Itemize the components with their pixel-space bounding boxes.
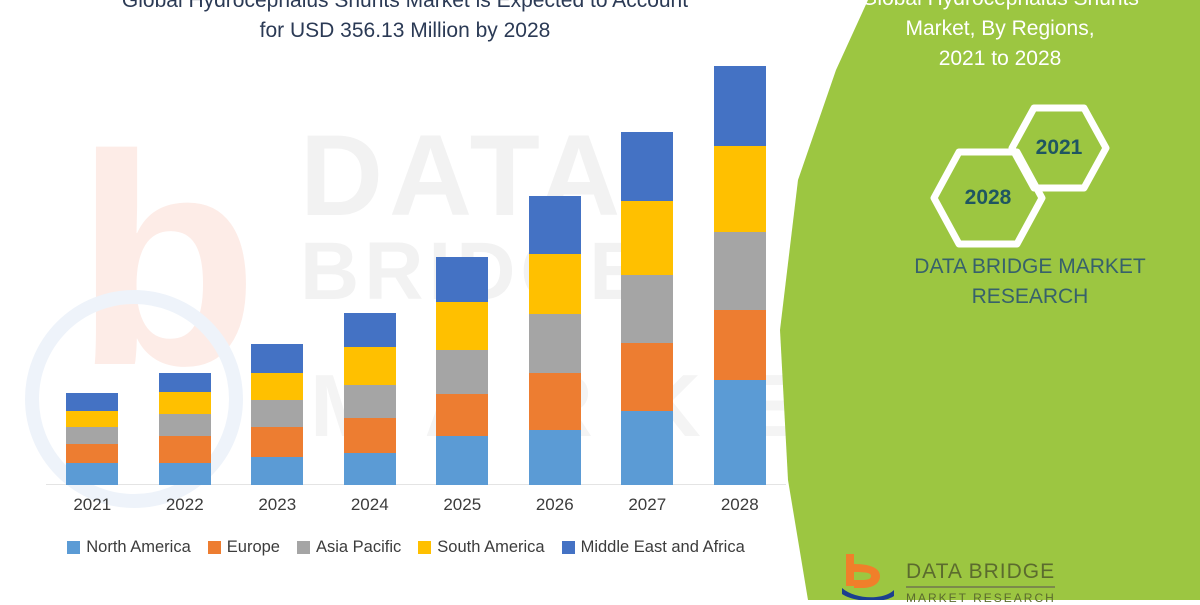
- legend-item-middle-east-and-africa[interactable]: Middle East and Africa: [562, 538, 745, 557]
- side-panel-title-line-3: 2021 to 2028: [810, 44, 1190, 74]
- bar-2025: [436, 257, 488, 485]
- bar-segment-middle-east-and-africa-2025: [436, 257, 488, 303]
- legend-swatch-icon: [562, 541, 575, 554]
- bar-segment-south-america-2028: [714, 146, 766, 232]
- x-axis-label-2026: 2026: [510, 495, 600, 515]
- hexagon-badge-2021-label: 2021: [1036, 136, 1083, 160]
- bar-segment-asia-pacific-2028: [714, 232, 766, 310]
- bar-2021: [66, 393, 118, 485]
- x-axis-labels: 20212022202320242025202620272028: [46, 495, 786, 525]
- bar-segment-middle-east-and-africa-2026: [529, 196, 581, 254]
- bar-segment-north-america-2025: [436, 436, 488, 485]
- bar-segment-middle-east-and-africa-2023: [251, 344, 303, 373]
- bar-segment-south-america-2024: [344, 347, 396, 385]
- bar-2027: [621, 132, 673, 485]
- legend-label: North America: [86, 538, 191, 557]
- bar-2026: [529, 196, 581, 485]
- footer-logo-text: DATA BRIDGE MARKET RESEARCH: [906, 552, 1056, 605]
- footer-logo: DATA BRIDGE MARKET RESEARCH: [840, 552, 1200, 600]
- bar-segment-asia-pacific-2023: [251, 400, 303, 427]
- bar-segment-europe-2022: [159, 436, 211, 463]
- bar-segment-europe-2024: [344, 418, 396, 453]
- brand-line-1: DATA BRIDGE MARKET: [880, 252, 1180, 282]
- footer-logo-line-2: MARKET RESEARCH: [906, 591, 1056, 605]
- chart-panel: b DATA BRIDGE M A R K E T R E S E A R C …: [0, 0, 860, 600]
- x-axis-label-2028: 2028: [695, 495, 785, 515]
- x-axis-label-2021: 2021: [47, 495, 137, 515]
- bar-segment-south-america-2025: [436, 302, 488, 349]
- brand-name: DATA BRIDGE MARKET RESEARCH: [880, 252, 1180, 312]
- bar-segment-asia-pacific-2025: [436, 350, 488, 395]
- bar-segment-asia-pacific-2026: [529, 314, 581, 373]
- x-axis-label-2023: 2023: [232, 495, 322, 515]
- bar-segment-south-america-2026: [529, 254, 581, 314]
- bar-segment-north-america-2022: [159, 463, 211, 485]
- side-panel-title-line-2: Market, By Regions,: [810, 14, 1190, 44]
- data-bridge-b-logo-icon: [840, 552, 896, 600]
- legend-item-asia-pacific[interactable]: Asia Pacific: [297, 538, 401, 557]
- chart-legend: North AmericaEuropeAsia PacificSouth Ame…: [0, 538, 812, 557]
- bar-2028: [714, 66, 766, 485]
- x-axis-label-2027: 2027: [602, 495, 692, 515]
- side-panel-title-line-1: Global Hydrocephalus Shunts: [810, 0, 1190, 14]
- x-axis-label-2024: 2024: [325, 495, 415, 515]
- bar-segment-north-america-2024: [344, 453, 396, 485]
- legend-item-south-america[interactable]: South America: [418, 538, 544, 557]
- bar-segment-europe-2027: [621, 343, 673, 411]
- legend-swatch-icon: [67, 541, 80, 554]
- bar-segment-south-america-2022: [159, 392, 211, 414]
- hexagon-badge-2028-label: 2028: [965, 186, 1012, 210]
- legend-label: South America: [437, 538, 544, 557]
- bar-segment-europe-2021: [66, 444, 118, 463]
- legend-item-north-america[interactable]: North America: [67, 538, 191, 557]
- side-panel-title: Global Hydrocephalus Shunts Market, By R…: [810, 0, 1190, 74]
- bar-segment-north-america-2021: [66, 463, 118, 485]
- bar-segment-europe-2025: [436, 394, 488, 435]
- bar-segment-asia-pacific-2021: [66, 427, 118, 443]
- bar-segment-europe-2028: [714, 310, 766, 381]
- bar-segment-north-america-2026: [529, 430, 581, 485]
- bar-segment-middle-east-and-africa-2028: [714, 66, 766, 146]
- bar-segment-europe-2026: [529, 373, 581, 430]
- footer-logo-line-1: DATA BRIDGE: [906, 560, 1055, 588]
- x-axis-label-2025: 2025: [417, 495, 507, 515]
- bar-segment-middle-east-and-africa-2021: [66, 393, 118, 411]
- chart-title: Global Hydrocephalus Shunts Market is Ex…: [40, 0, 770, 46]
- legend-swatch-icon: [418, 541, 431, 554]
- chart-title-line-1: Global Hydrocephalus Shunts Market is Ex…: [40, 0, 770, 16]
- brand-line-2: RESEARCH: [880, 282, 1180, 312]
- bar-segment-north-america-2028: [714, 380, 766, 485]
- bar-segment-asia-pacific-2027: [621, 275, 673, 342]
- bar-2024: [344, 313, 396, 485]
- bar-segment-asia-pacific-2024: [344, 385, 396, 418]
- legend-label: Middle East and Africa: [581, 538, 745, 557]
- bar-segment-south-america-2023: [251, 373, 303, 400]
- bar-segment-south-america-2027: [621, 201, 673, 275]
- legend-item-europe[interactable]: Europe: [208, 538, 280, 557]
- bar-segment-north-america-2027: [621, 411, 673, 485]
- bar-segment-middle-east-and-africa-2024: [344, 313, 396, 347]
- legend-label: Asia Pacific: [316, 538, 401, 557]
- bar-2023: [251, 344, 303, 485]
- bar-segment-north-america-2023: [251, 457, 303, 485]
- bar-segment-south-america-2021: [66, 411, 118, 427]
- hexagon-badge-2021: 2021: [1008, 104, 1110, 192]
- stacked-bar-plot: [46, 60, 786, 485]
- chart-title-line-2: for USD 356.13 Million by 2028: [40, 16, 770, 46]
- legend-swatch-icon: [208, 541, 221, 554]
- legend-swatch-icon: [297, 541, 310, 554]
- bar-2022: [159, 373, 211, 485]
- bar-segment-europe-2023: [251, 427, 303, 456]
- bar-segment-middle-east-and-africa-2022: [159, 373, 211, 392]
- bar-segment-middle-east-and-africa-2027: [621, 132, 673, 201]
- x-axis-label-2022: 2022: [140, 495, 230, 515]
- bar-segment-asia-pacific-2022: [159, 414, 211, 435]
- legend-label: Europe: [227, 538, 280, 557]
